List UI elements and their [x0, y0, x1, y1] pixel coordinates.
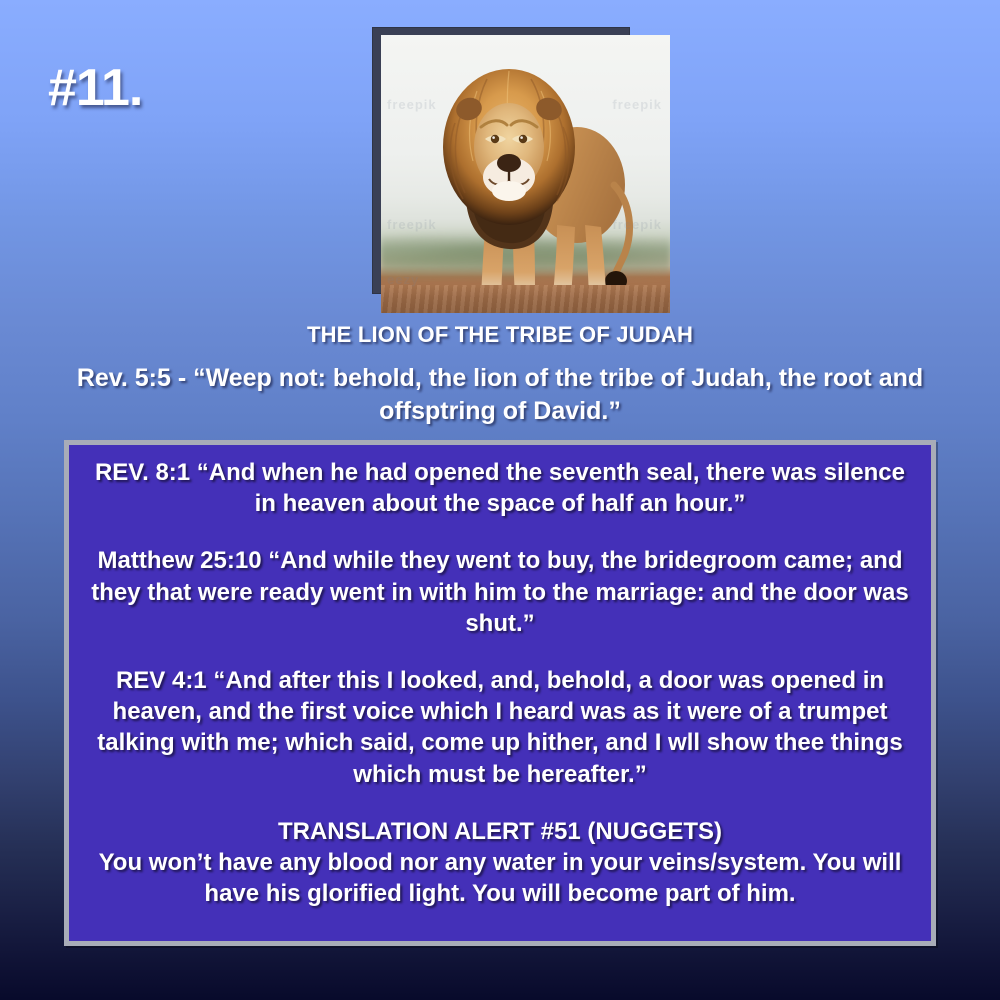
slide-canvas: #11. — [0, 0, 1000, 1000]
ground-surface — [381, 285, 670, 313]
lion-illustration — [381, 35, 670, 313]
lion-photo-block: freepik freepik freepik freepik eezy — [373, 28, 671, 313]
caption-block: THE LION OF THE TRIBE OF JUDAH Rev. 5:5 … — [40, 322, 960, 427]
caption-verse: Rev. 5:5 - “Weep not: behold, the lion o… — [40, 362, 960, 427]
scripture-content-box: REV. 8:1 “And when he had opened the sev… — [64, 440, 936, 946]
lion-photo: freepik freepik freepik freepik eezy — [381, 35, 670, 313]
translation-alert-body: You won’t have any blood nor any water i… — [81, 847, 919, 909]
paragraph-rev-4-1: REV 4:1 “And after this I looked, and, b… — [81, 665, 919, 790]
photo-frame: freepik freepik freepik freepik eezy — [381, 35, 670, 313]
paragraph-matthew-25-10: Matthew 25:10 “And while they went to bu… — [81, 545, 919, 639]
slide-number: #11. — [48, 58, 142, 118]
paragraph-rev-8-1: REV. 8:1 “And when he had opened the sev… — [81, 457, 919, 519]
caption-title: THE LION OF THE TRIBE OF JUDAH — [40, 322, 960, 348]
translation-alert-heading: TRANSLATION ALERT #51 (NUGGETS) — [81, 816, 919, 847]
